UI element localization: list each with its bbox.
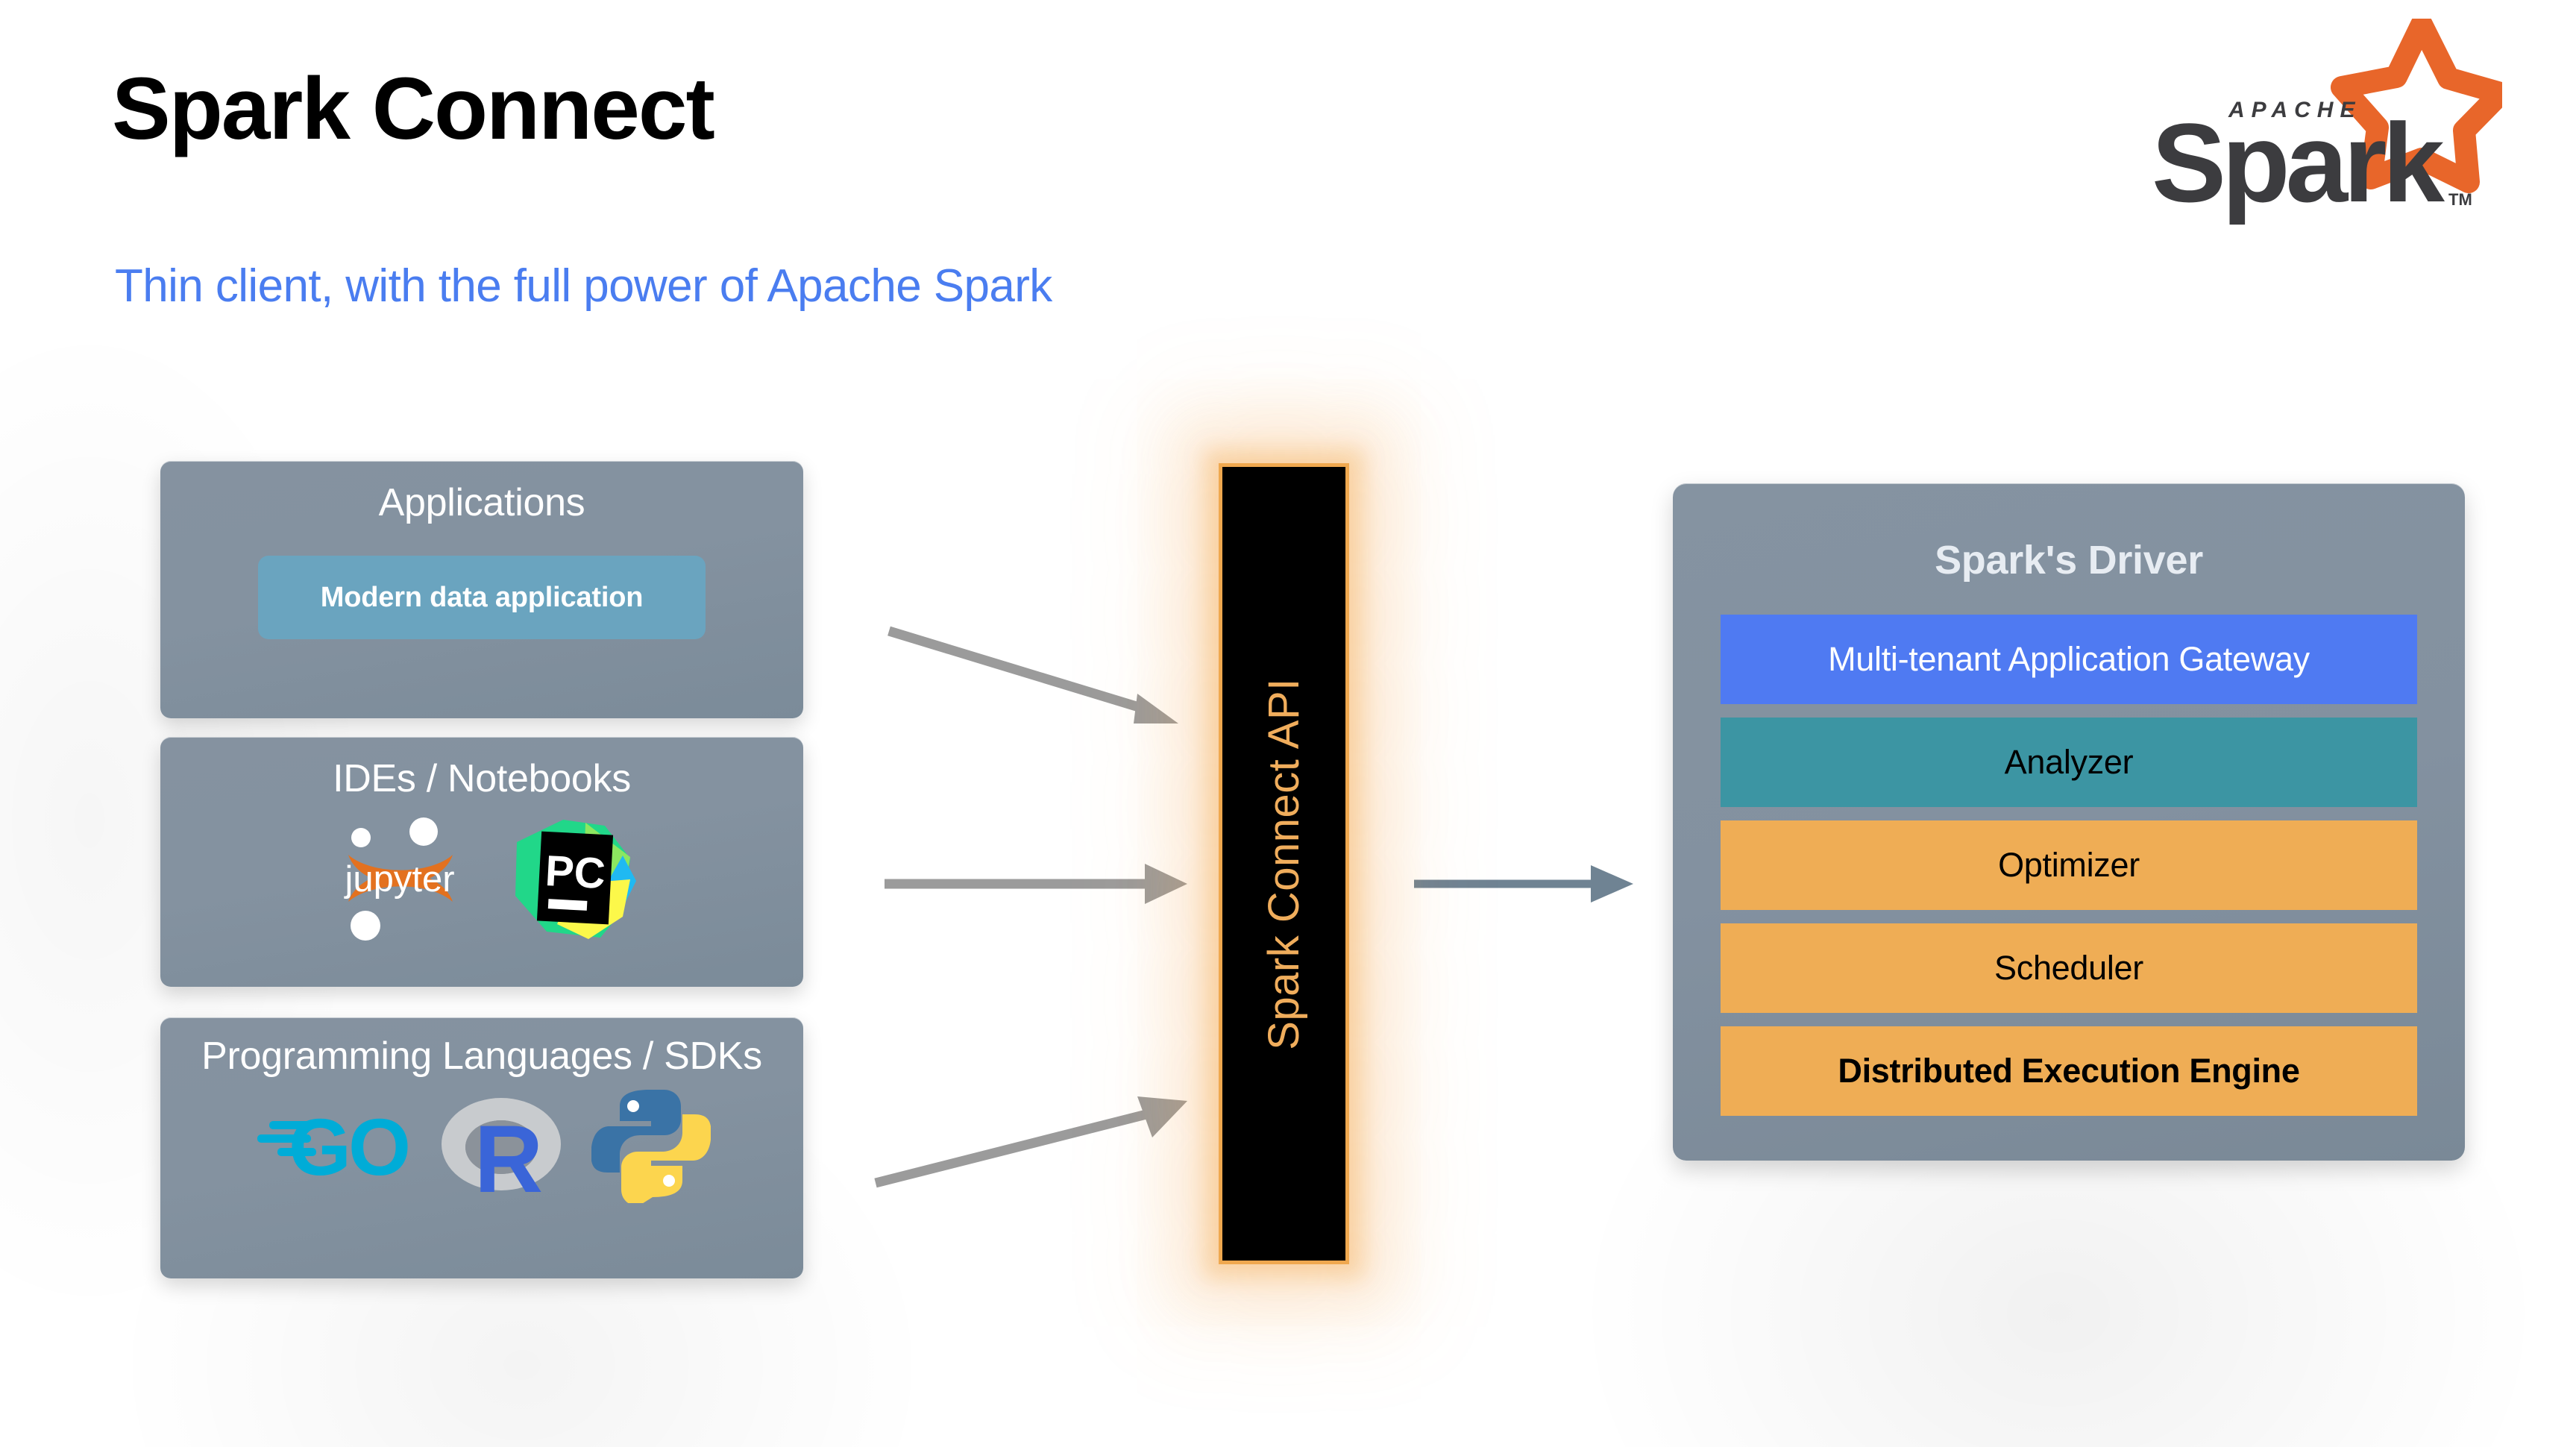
svg-text:GO: GO [289, 1102, 408, 1192]
spark-connect-api-bar: Spark Connect API [1219, 463, 1349, 1264]
driver-row-optimizer: Optimizer [1721, 820, 2417, 910]
page-subtitle: Thin client, with the full power of Apac… [115, 260, 1052, 313]
spark-connect-api-label: Spark Connect API [1259, 678, 1309, 1050]
r-icon: R [437, 1086, 568, 1205]
r-wordmark: R [474, 1106, 543, 1202]
pycharm-icon: PC [511, 812, 638, 947]
driver-row-analyzer: Analyzer [1721, 718, 2417, 807]
driver-row-label: Multi-tenant Application Gateway [1828, 640, 2310, 679]
card-title-ides-notebooks: IDEs / Notebooks [160, 737, 803, 802]
card-title-applications: Applications [160, 461, 803, 526]
jupyter-icon: jupyter [326, 812, 475, 947]
python-icon [591, 1084, 711, 1207]
pycharm-wordmark: PC [544, 847, 606, 898]
jupyter-wordmark: jupyter [343, 859, 454, 900]
client-card-applications: Applications Modern data application [160, 461, 803, 718]
go-icon: GO [253, 1091, 413, 1199]
driver-row-label: Analyzer [2005, 743, 2134, 782]
driver-row-multi-tenant-application-gateway: Multi-tenant Application Gateway [1721, 615, 2417, 704]
driver-component-list: Multi-tenant Application Gateway Analyze… [1673, 615, 2465, 1116]
driver-row-distributed-execution-engine: Distributed Execution Engine [1721, 1026, 2417, 1116]
arrow-applications-to-api [880, 604, 1193, 738]
sparks-driver-panel: Spark's Driver Multi-tenant Application … [1673, 483, 2465, 1161]
ide-logo-row: jupyter PC [160, 812, 803, 947]
arrow-api-to-driver [1410, 850, 1656, 917]
driver-row-scheduler: Scheduler [1721, 923, 2417, 1013]
card-title-programming-languages: Programming Languages / SDKs [160, 1017, 803, 1079]
language-logo-row: GO R [160, 1084, 803, 1207]
modern-data-application-pill: Modern data application [258, 556, 706, 639]
driver-row-label: Scheduler [1994, 949, 2143, 988]
arrow-languages-to-api [865, 1044, 1201, 1201]
driver-row-label: Optimizer [1998, 846, 2140, 885]
svg-text:TM: TM [2448, 190, 2472, 209]
client-card-programming-languages: Programming Languages / SDKs GO [160, 1017, 803, 1278]
apache-spark-logo-icon: APACHE Spark TM [2129, 19, 2502, 227]
svg-text:Spark: Spark [2152, 100, 2445, 225]
driver-row-label: Distributed Execution Engine [1838, 1052, 2299, 1090]
page-title: Spark Connect [112, 58, 714, 160]
sparks-driver-title: Spark's Driver [1673, 483, 2465, 583]
slide-canvas: Spark Connect Thin client, with the full… [0, 0, 2576, 1447]
apache-spark-logo: APACHE Spark TM [2129, 19, 2502, 227]
arrow-ides-to-api [880, 850, 1193, 917]
client-card-ides-notebooks: IDEs / Notebooks jupyter [160, 737, 803, 987]
